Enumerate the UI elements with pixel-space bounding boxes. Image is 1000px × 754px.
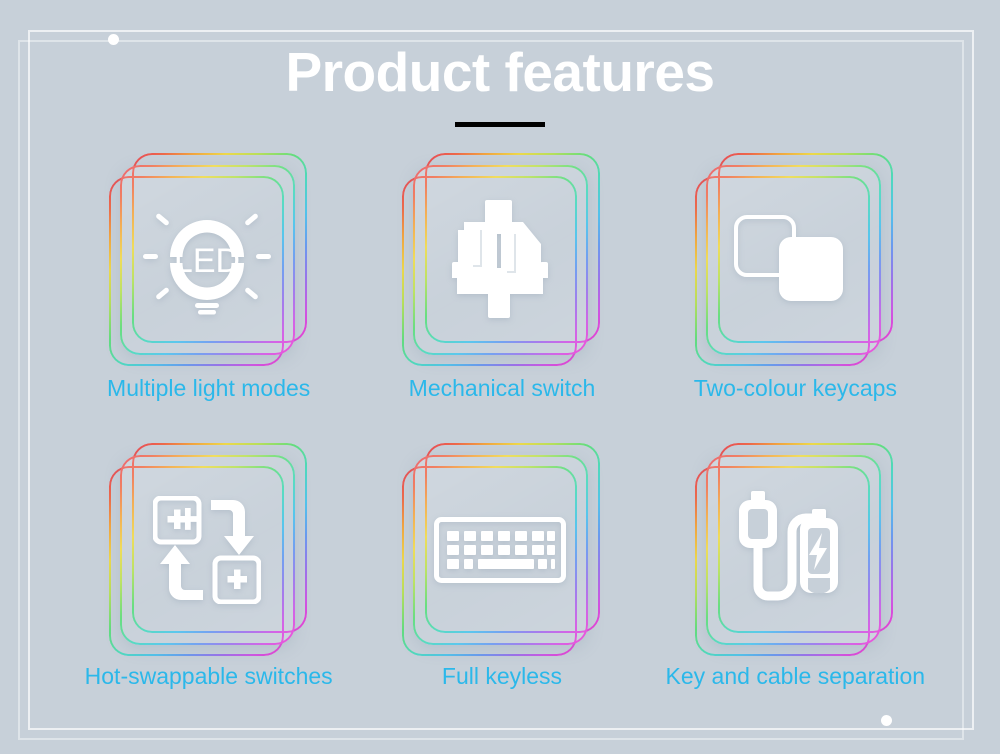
- feature-card-full-keyless[interactable]: Full keyless: [355, 442, 648, 732]
- keyboard-icon: [413, 455, 588, 645]
- feature-label: Two-colour keycaps: [694, 375, 897, 403]
- feature-label: Mechanical switch: [409, 375, 596, 403]
- header: Product features: [0, 42, 1000, 127]
- feature-label: Key and cable separation: [666, 663, 926, 691]
- title-underline-rule: [455, 122, 545, 127]
- feature-grid: LED Multiple light modes: [62, 152, 942, 732]
- feature-label: Multiple light modes: [107, 375, 310, 403]
- mechanical-switch-icon: [413, 165, 588, 355]
- feature-tile: LED: [109, 152, 309, 367]
- two-keycaps-icon: [706, 165, 881, 355]
- feature-card-key-and-cable-separation[interactable]: Key and cable separation: [649, 442, 942, 732]
- feature-tile: [695, 442, 895, 657]
- led-bulb-icon: LED: [120, 165, 295, 355]
- feature-card-hot-swappable-switches[interactable]: Hot-swappable switches: [62, 442, 355, 732]
- led-icon-text: LED: [174, 242, 240, 280]
- page-title: Product features: [0, 42, 1000, 103]
- feature-tile: [402, 152, 602, 367]
- feature-tile: [109, 442, 309, 657]
- feature-card-multiple-light-modes[interactable]: LED Multiple light modes: [62, 152, 355, 442]
- feature-card-mechanical-switch[interactable]: Mechanical switch: [355, 152, 648, 442]
- usb-cable-icon: [706, 455, 881, 645]
- feature-tile: [402, 442, 602, 657]
- feature-label: Full keyless: [442, 663, 562, 691]
- feature-label: Hot-swappable switches: [85, 663, 333, 691]
- feature-card-two-colour-keycaps[interactable]: Two-colour keycaps: [649, 152, 942, 442]
- swap-switches-icon: [120, 455, 295, 645]
- feature-tile: [695, 152, 895, 367]
